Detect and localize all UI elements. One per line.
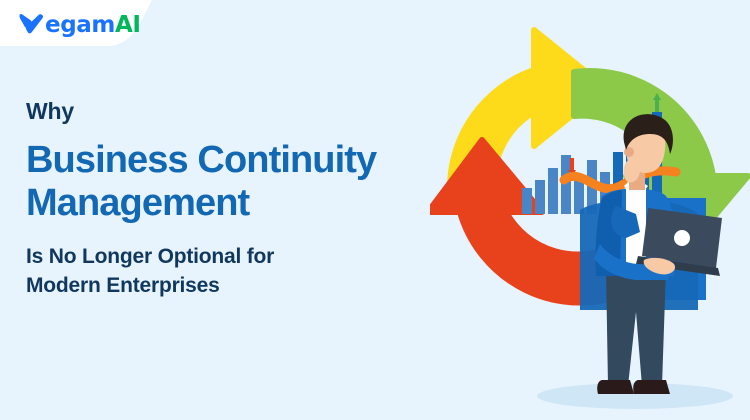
subheadline-text: Is No Longer Optional for Modern Enterpr… — [26, 243, 446, 301]
headline-line-2: Management — [26, 182, 249, 224]
subheadline-line-1: Is No Longer Optional for — [26, 245, 274, 268]
page-title: Business Continuity Management — [26, 139, 446, 225]
headline-block: Why Business Continuity Management Is No… — [26, 100, 446, 301]
logo-wordmark-accent: AI — [115, 12, 141, 38]
right-shoe — [633, 380, 670, 394]
eyebrow-text: Why — [26, 100, 446, 123]
logo-wordmark-primary: egam — [45, 12, 115, 38]
trousers — [606, 268, 666, 386]
promo-banner: egamAI Why Business Continuity Managemen… — [0, 0, 750, 420]
left-shoe — [597, 380, 634, 394]
continuity-cycle-illustration — [430, 0, 750, 420]
vegam-v-leaf-icon — [18, 13, 44, 37]
vegamai-logo[interactable]: egamAI — [18, 11, 141, 39]
headline-line-1: Business Continuity — [26, 139, 376, 181]
ear — [624, 147, 634, 157]
subheadline-line-2: Modern Enterprises — [26, 274, 220, 297]
logo-wordmark: egamAI — [45, 13, 141, 37]
